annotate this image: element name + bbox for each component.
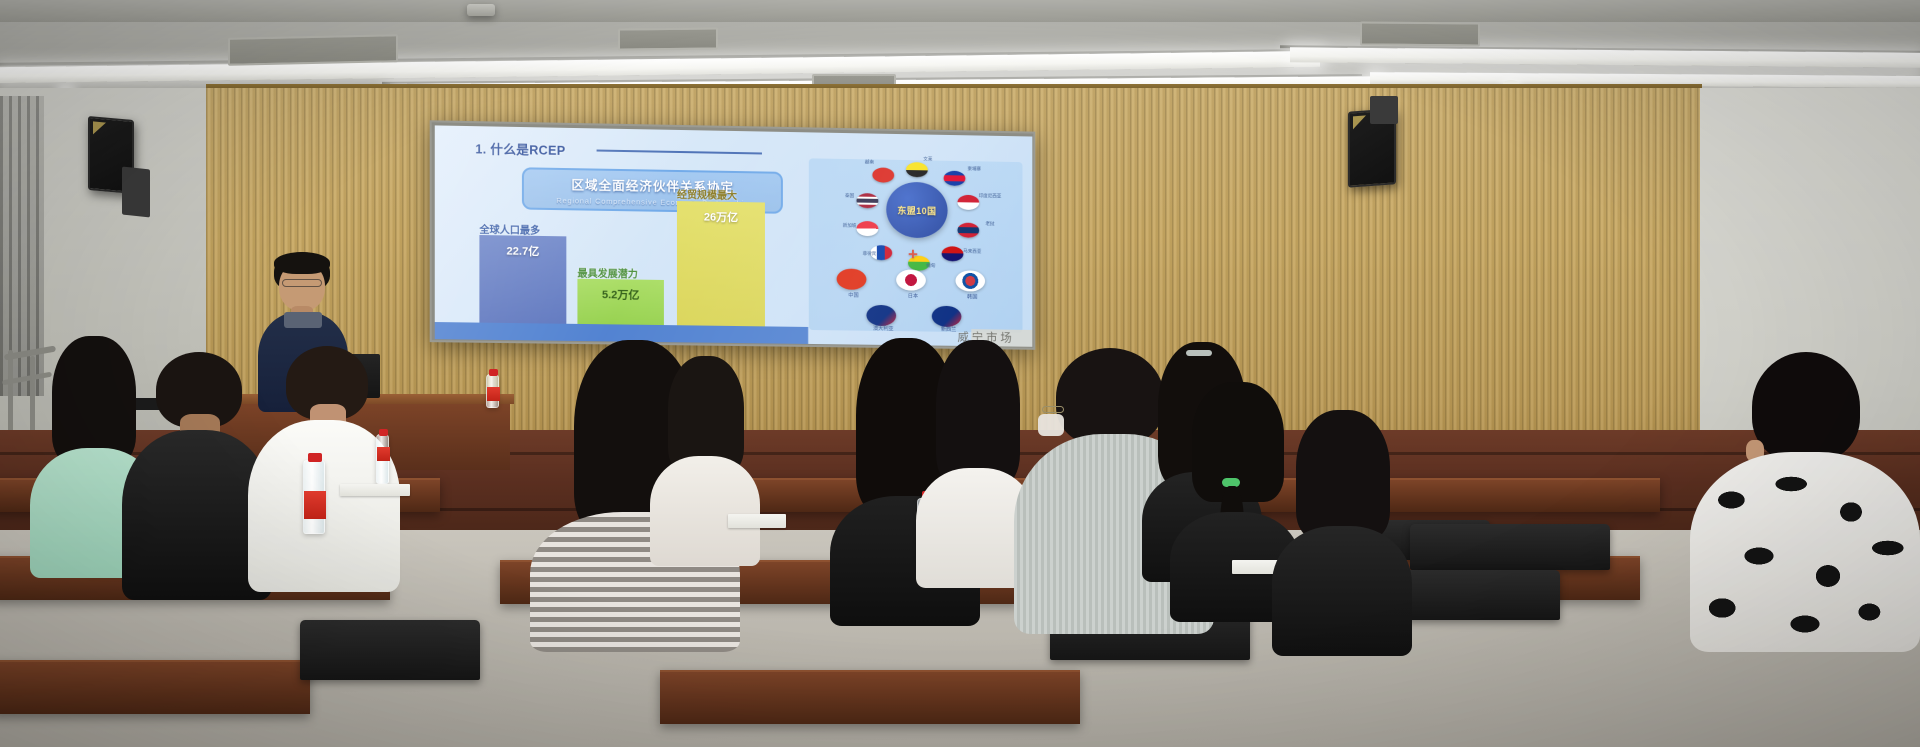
presenter-hair-top [274, 252, 330, 274]
flag-chip-cambodia [944, 171, 966, 186]
presenter-collar [284, 312, 322, 328]
audience-11-hair [1296, 410, 1390, 540]
flag-korea [955, 270, 985, 291]
ceiling-projector [467, 4, 495, 16]
flag-caption-singapore: 新加坡 [830, 223, 870, 230]
flag-caption-indonesia: 印度尼西亚 [970, 193, 1009, 200]
flag-caption-korea: 韩国 [950, 293, 995, 301]
audience-member-11 [1272, 410, 1412, 640]
plus-icon: + [908, 246, 918, 263]
audience-5-torso [650, 456, 760, 566]
bottle-label-a3 [304, 491, 326, 519]
bottle-label-a3b [377, 447, 390, 461]
flag-caption-japan: 日本 [890, 292, 936, 300]
bar-value-2: 26万亿 [704, 208, 738, 326]
audience-8-face-mask [1038, 414, 1064, 436]
bar-value-1: 5.2万亿 [602, 286, 640, 325]
bar-chart: 全球人口最多 22.7亿 最具发展潜力 5.2万亿 经贸规模最大 26万亿 [435, 125, 809, 344]
chair-mid-right [1400, 570, 1560, 620]
hvac-vent-center [618, 27, 718, 50]
audience-12-torso [1690, 452, 1920, 652]
hvac-vent-right [1360, 21, 1480, 46]
bottle-cap-a3 [308, 453, 322, 462]
flag-china [837, 269, 867, 290]
paper-a3 [340, 484, 410, 496]
flag-caption-philippines: 菲律宾 [850, 251, 890, 258]
flag-caption-cambodia: 柬埔寨 [955, 166, 994, 173]
bottle-label-2 [487, 387, 500, 401]
bar-1: 5.2万亿 [577, 279, 663, 325]
audience-desk-row3-left [0, 660, 310, 714]
audience-11-torso [1272, 526, 1412, 656]
flag-japan [896, 269, 926, 290]
flag-caption-china: 中国 [831, 291, 877, 299]
bar-label-2: 经贸规模最大 [677, 186, 737, 202]
water-bottle-a3 [303, 460, 325, 534]
speaker-bracket-left [122, 167, 150, 218]
asean-center-badge: 东盟10国 [886, 182, 947, 239]
audience-8-glasses [1042, 406, 1064, 413]
hvac-vent-left [228, 34, 398, 66]
flag-caption-thailand: 泰国 [830, 193, 870, 200]
flag-caption-brunei: 文莱 [908, 156, 948, 163]
flag-chip-vietnam [872, 167, 894, 182]
speaker-corner-badge-right [1353, 115, 1366, 129]
asean-center-label: 东盟10国 [897, 203, 936, 217]
paper-a5 [728, 514, 786, 528]
bar-value-0: 22.7亿 [507, 242, 540, 323]
conference-room-scene: 1. 什么是RCEP 区域全面经济伙伴关系协定 Regional Compreh… [0, 0, 1920, 747]
flag-newzealand [932, 306, 962, 327]
audience-12-hair [1752, 352, 1860, 462]
flag-australia [866, 305, 896, 326]
water-bottle-a3b [376, 434, 389, 484]
bottle-cap-2 [489, 369, 498, 376]
audience-9-hair-clip [1186, 350, 1212, 356]
audience-7-hair [936, 340, 1020, 486]
bottle-cap-a3b [379, 429, 388, 436]
presenter-glasses [282, 279, 322, 287]
bar-0: 22.7亿 [479, 235, 566, 324]
slide-content: 1. 什么是RCEP 区域全面经济伙伴关系协定 Regional Compreh… [435, 125, 1033, 346]
water-bottle-desk-2 [486, 374, 499, 408]
audience-member-12 [1690, 352, 1920, 642]
ceiling-soffit-top [0, 0, 1920, 22]
flag-caption-vietnam: 越南 [850, 159, 890, 166]
flag-caption-laos: 老挝 [970, 221, 1009, 228]
bar-2: 26万亿 [677, 201, 765, 326]
chair-right-2 [1410, 524, 1610, 570]
speaker-bracket-right [1370, 96, 1398, 124]
flag-caption-malaysia: 马来西亚 [953, 248, 992, 255]
speaker-corner-badge-left [93, 121, 106, 135]
projection-screen: 1. 什么是RCEP 区域全面经济伙伴关系协定 Regional Compreh… [430, 120, 1036, 350]
flag-chip-brunei [906, 162, 928, 177]
chair-front-left [300, 620, 480, 680]
member-countries-panel: 东盟10国 文莱 柬埔寨 印度尼西亚 老挝 马来西亚 缅甸 菲律宾 新加坡 [809, 158, 1023, 332]
audience-desk-row3-center [660, 670, 1080, 724]
